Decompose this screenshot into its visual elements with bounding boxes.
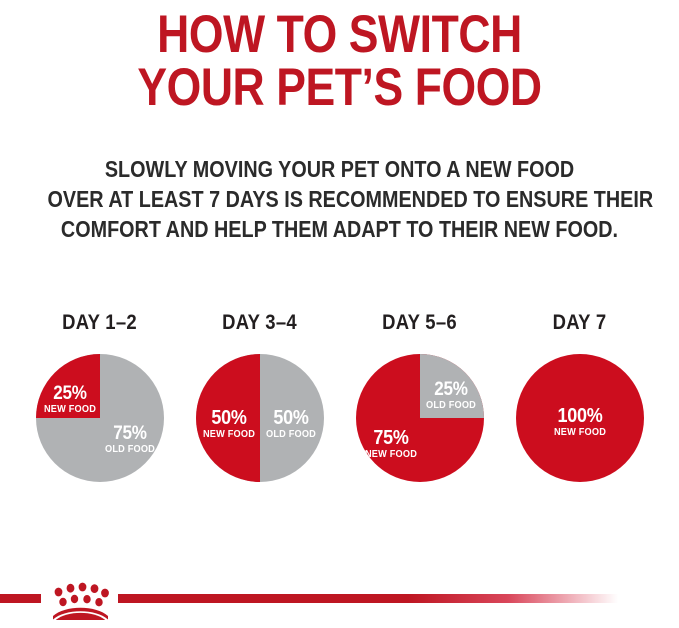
pie-chart-day-1-2: 25% NEW FOOD 75% OLD FOOD [36,354,164,482]
title-line-1: HOW TO SWITCH [54,8,624,61]
pie-chart-day-3-4: 50% NEW FOOD 50% OLD FOOD [196,354,324,482]
pie-chart-day-5-6: 25% OLD FOOD 75% NEW FOOD [356,354,484,482]
pie-cell-day-5-6: DAY 5–6 25% OLD FOOD 75% NEW FOOD [340,312,500,482]
pie-cell-day-3-4: DAY 3–4 50% NEW FOOD 50% OLD FOOD [180,312,340,482]
day-label-1: DAY 1–2 [62,312,137,333]
pie-cell-day-1-2: DAY 1–2 25% NEW FOOD 75% OLD FOOD [20,312,180,482]
day-label-4: DAY 7 [553,312,607,333]
day-label-2: DAY 3–4 [222,312,297,333]
footer-bar-left [0,594,41,603]
page-title: HOW TO SWITCH YOUR PET’S FOOD [0,8,679,114]
royal-canin-crown-icon [41,580,118,620]
pie-cell-day-7: DAY 7 100% NEW FOOD [500,312,660,482]
subtitle-line-3: COMFORT AND HELP THEM ADAPT TO THEIR NEW… [48,214,632,244]
page-subtitle: SLOWLY MOVING YOUR PET ONTO A NEW FOOD O… [0,154,679,244]
pie-slice-old-food [420,354,484,418]
subtitle-line-1: SLOWLY MOVING YOUR PET ONTO A NEW FOOD [48,154,632,184]
pie-slice-new-food [36,354,100,418]
pie-slice-new-food [196,354,260,482]
day-label-3: DAY 5–6 [382,312,457,333]
pie-chart-day-7: 100% NEW FOOD [516,354,644,482]
subtitle-line-2: OVER AT LEAST 7 DAYS IS RECOMMENDED TO E… [48,184,632,214]
infographic-page: HOW TO SWITCH YOUR PET’S FOOD SLOWLY MOV… [0,0,679,628]
title-line-2: YOUR PET’S FOOD [54,61,624,114]
footer-bar-right [118,594,618,603]
pie-slice-new-food [516,354,644,482]
footer [0,570,679,628]
pie-chart-row: DAY 1–2 25% NEW FOOD 75% OLD FOOD DAY 3–… [0,312,679,502]
